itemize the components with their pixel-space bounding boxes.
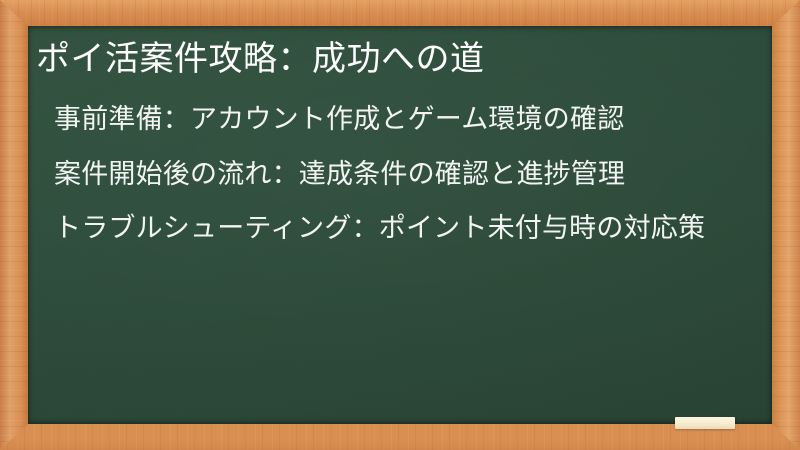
bullet-list: 事前準備：アカウント作成とゲーム環境の確認 案件開始後の流れ：達成条件の確認と進… (54, 102, 754, 266)
bullet-item: トラブルシューティング：ポイント未付与時の対応策 (54, 211, 754, 247)
bullet-item: 事前準備：アカウント作成とゲーム環境の確認 (54, 102, 754, 138)
frame-plank-left (0, 0, 28, 450)
frame-plank-top (0, 0, 800, 26)
slide-title: ポイ活案件攻略：成功への道 (36, 38, 756, 81)
chalkboard-surface: ポイ活案件攻略：成功への道 事前準備：アカウント作成とゲーム環境の確認 案件開始… (28, 26, 772, 424)
frame-plank-right (772, 0, 800, 450)
chalk-stick (675, 417, 735, 429)
chalkboard-slide: ポイ活案件攻略：成功への道 事前準備：アカウント作成とゲーム環境の確認 案件開始… (0, 0, 800, 450)
bullet-item: 案件開始後の流れ：達成条件の確認と進捗管理 (54, 157, 754, 193)
